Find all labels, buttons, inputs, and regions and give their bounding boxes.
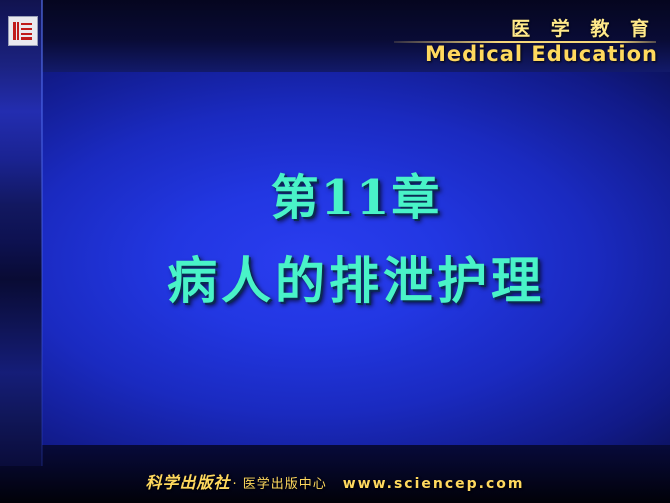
presentation-slide: 医 学 教 育 Medical Education 第11章 病人的排泄护理 科… — [0, 0, 670, 503]
left-decorative-strip — [0, 0, 42, 466]
chapter-title: 病人的排泄护理 — [42, 250, 670, 313]
slide-footer: 科学出版社· 医学出版中心www.sciencep.com — [0, 469, 670, 493]
slide-title-block: 第11章 病人的排泄护理 — [42, 170, 670, 312]
logo-mark-icon — [12, 20, 34, 42]
footer-url[interactable]: www.sciencep.com — [343, 476, 525, 492]
footer-center-name: · 医学出版中心 — [232, 477, 326, 492]
publisher-logo — [8, 16, 38, 46]
header-title-english: Medical Education — [425, 42, 658, 66]
footer-publisher: 科学出版社 — [145, 473, 230, 492]
header-title-chinese: 医 学 教 育 — [511, 14, 656, 41]
chapter-number: 第11章 — [42, 170, 670, 228]
